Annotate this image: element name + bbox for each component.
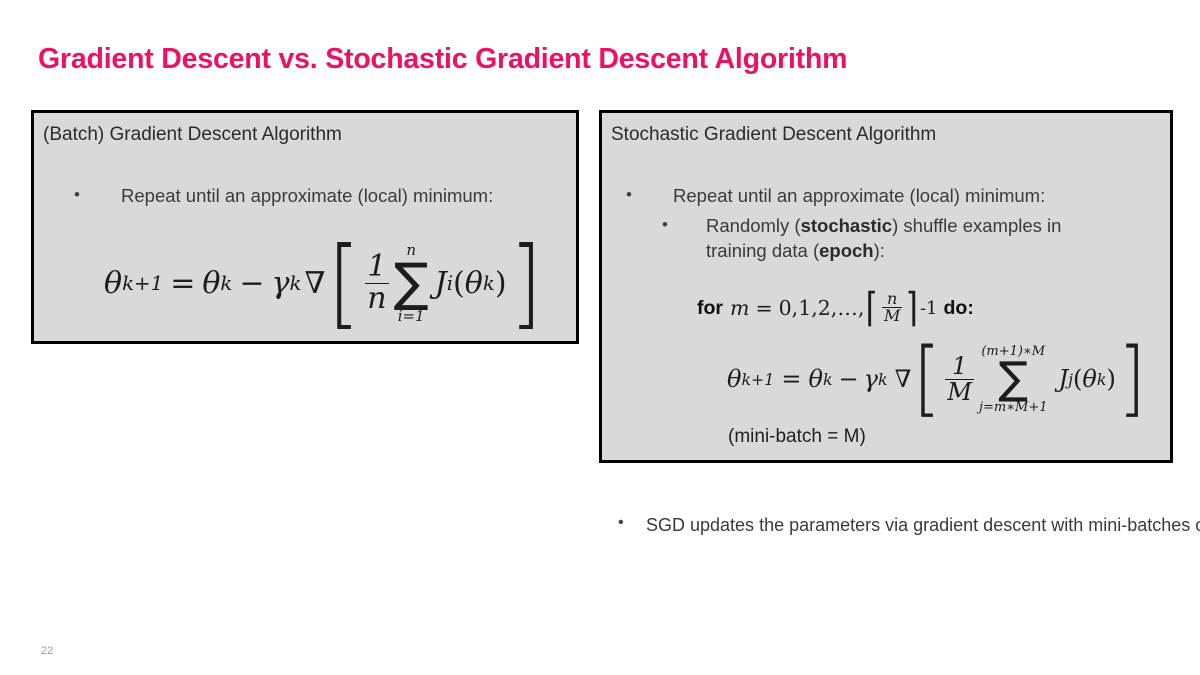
minibatch-note: (mini-batch = M) xyxy=(728,426,866,448)
sgd-arg-open: ( xyxy=(1073,365,1082,393)
sgd-gamma: γ xyxy=(864,365,878,393)
ceiling-close-bracket-icon: ⌉ xyxy=(906,291,918,325)
ceiling-open-bracket-icon: ⌈ xyxy=(866,291,878,325)
batch-bullet-repeat-label: Repeat until an approximate (local) mini… xyxy=(121,184,493,209)
batch-arg-theta-sub: k xyxy=(483,272,495,295)
sgd-update-formula: θk+1 = θk − γk ∇ [ 1 M (m+1)∗M ∑ j=m∗M+1… xyxy=(727,345,1148,414)
do-keyword: do: xyxy=(938,297,974,320)
ceiling-expression: ⌈ n M ⌉ xyxy=(864,291,920,325)
batch-fraction-denominator: n xyxy=(365,283,388,315)
sgd-bullet-shuffle-label: Randomly (stochastic) shuffle examples i… xyxy=(706,214,1122,264)
sgd-arg-theta-sub: k xyxy=(1097,370,1107,389)
ceiling-denominator: M xyxy=(882,307,902,324)
sgd-arg-theta: θ xyxy=(1082,365,1096,393)
bullet-dot-icon: • xyxy=(74,184,121,207)
for-equals: = xyxy=(749,296,778,320)
for-keyword: for xyxy=(697,297,723,320)
sgd-bracket-close: ] xyxy=(1118,352,1145,406)
sgd-fraction-denominator: M xyxy=(945,379,974,404)
page-number: 22 xyxy=(41,645,53,657)
batch-gamma: γ xyxy=(272,266,290,301)
sgd-for-loop-line: for m = 0,1,2,…, ⌈ n M ⌉ -1 do: xyxy=(697,291,974,325)
sgd-bullet-repeat: • Repeat until an approximate (local) mi… xyxy=(626,184,1045,209)
batch-fraction: 1 n xyxy=(365,252,388,314)
batch-summation: n ∑ i=1 xyxy=(394,243,429,324)
batch-box-heading: (Batch) Gradient Descent Algorithm xyxy=(43,124,342,146)
sgd-bullet-repeat-label: Repeat until an approximate (local) mini… xyxy=(673,184,1045,209)
bullet-dot-icon: • xyxy=(618,512,646,534)
sgd-theta-sub: k xyxy=(823,370,833,389)
sgd-theta-next: θ xyxy=(727,365,741,393)
batch-fraction-numerator: 1 xyxy=(365,252,388,283)
ceiling-numerator: n xyxy=(885,291,899,307)
bottom-note-bullet: • SGD updates the parameters via gradien… xyxy=(618,512,1118,538)
sgd-shuffle-part-a: Randomly ( xyxy=(706,215,801,236)
sgd-nabla: ∇ xyxy=(888,365,912,393)
batch-bracket-open: [ xyxy=(328,251,360,315)
batch-gradient-descent-formula: θk+1 = θk − γk ∇ [ 1 n n ∑ i=1 Ji ( θk )… xyxy=(104,243,544,324)
sgd-equals: = xyxy=(774,365,808,393)
for-values: 0,1,2,…, xyxy=(779,296,865,320)
sgd-theta-next-sub: k+1 xyxy=(741,370,774,389)
batch-equals: = xyxy=(163,266,202,301)
sgd-fraction: 1 M xyxy=(945,354,974,404)
batch-arg-close: ) xyxy=(495,266,507,301)
sgd-cost: J xyxy=(1051,365,1069,393)
batch-theta-next: θ xyxy=(104,266,122,301)
batch-theta-next-sub: k+1 xyxy=(122,272,163,295)
sgd-shuffle-part-e: ): xyxy=(874,240,885,261)
sigma-icon: ∑ xyxy=(394,257,429,309)
sgd-box-heading: Stochastic Gradient Descent Algorithm xyxy=(611,124,936,146)
sigma-icon: ∑ xyxy=(998,357,1028,401)
sgd-minus: − xyxy=(833,365,864,393)
ceiling-fraction: n M xyxy=(882,291,902,325)
sgd-shuffle-epoch: epoch xyxy=(819,240,873,261)
for-variable: m xyxy=(723,296,749,320)
batch-theta-sub: k xyxy=(220,272,232,295)
for-minus-one: -1 xyxy=(920,298,938,319)
bottom-note-label: SGD updates the parameters via gradient … xyxy=(646,512,1200,538)
batch-arg-theta: θ xyxy=(465,266,483,301)
batch-theta: θ xyxy=(202,266,220,301)
batch-cost: J xyxy=(432,266,447,301)
batch-bracket-close: ] xyxy=(509,251,541,315)
page-title: Gradient Descent vs. Stochastic Gradient… xyxy=(38,43,847,76)
sgd-sum-lower-limit: j=m∗M+1 xyxy=(979,401,1048,414)
batch-minus: − xyxy=(232,266,271,301)
sgd-arg-close: ) xyxy=(1106,365,1115,393)
sgd-summation: (m+1)∗M ∑ j=m∗M+1 xyxy=(979,345,1048,414)
batch-arg-open: ( xyxy=(453,266,465,301)
batch-nabla: ∇ xyxy=(302,266,326,301)
batch-gamma-sub: k xyxy=(290,272,302,295)
sgd-theta: θ xyxy=(809,365,823,393)
bullet-dot-icon: • xyxy=(626,184,673,207)
sgd-gamma-sub: k xyxy=(878,370,888,389)
bullet-dot-icon: • xyxy=(662,214,706,237)
batch-bullet-repeat: • Repeat until an approximate (local) mi… xyxy=(74,184,493,209)
sgd-fraction-numerator: 1 xyxy=(950,354,969,378)
batch-sum-lower-limit: i=1 xyxy=(398,309,425,324)
sgd-bullet-shuffle: • Randomly (stochastic) shuffle examples… xyxy=(662,214,1122,264)
sgd-shuffle-stochastic: stochastic xyxy=(801,215,893,236)
sgd-bracket-open: [ xyxy=(914,352,941,406)
